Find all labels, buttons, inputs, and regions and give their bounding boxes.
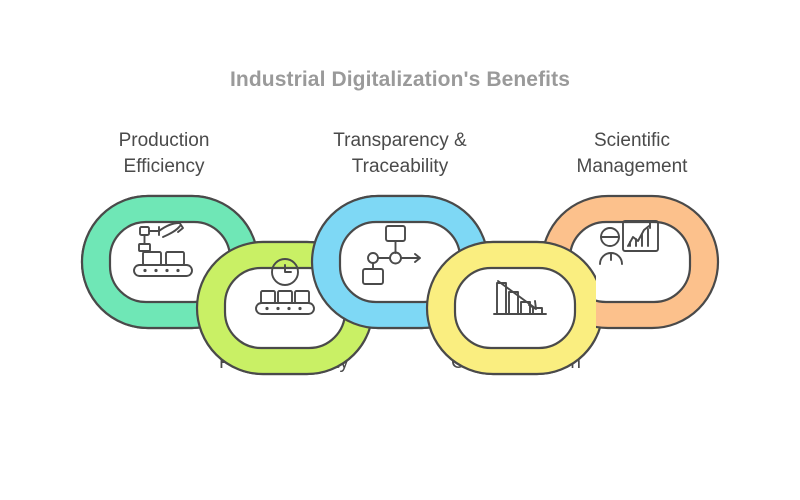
diagram-canvas: Industrial Digitalization's Benefits Pro… <box>0 0 800 500</box>
chain-graphic <box>0 0 800 500</box>
weave-overlap-4-over-5 <box>427 242 603 374</box>
